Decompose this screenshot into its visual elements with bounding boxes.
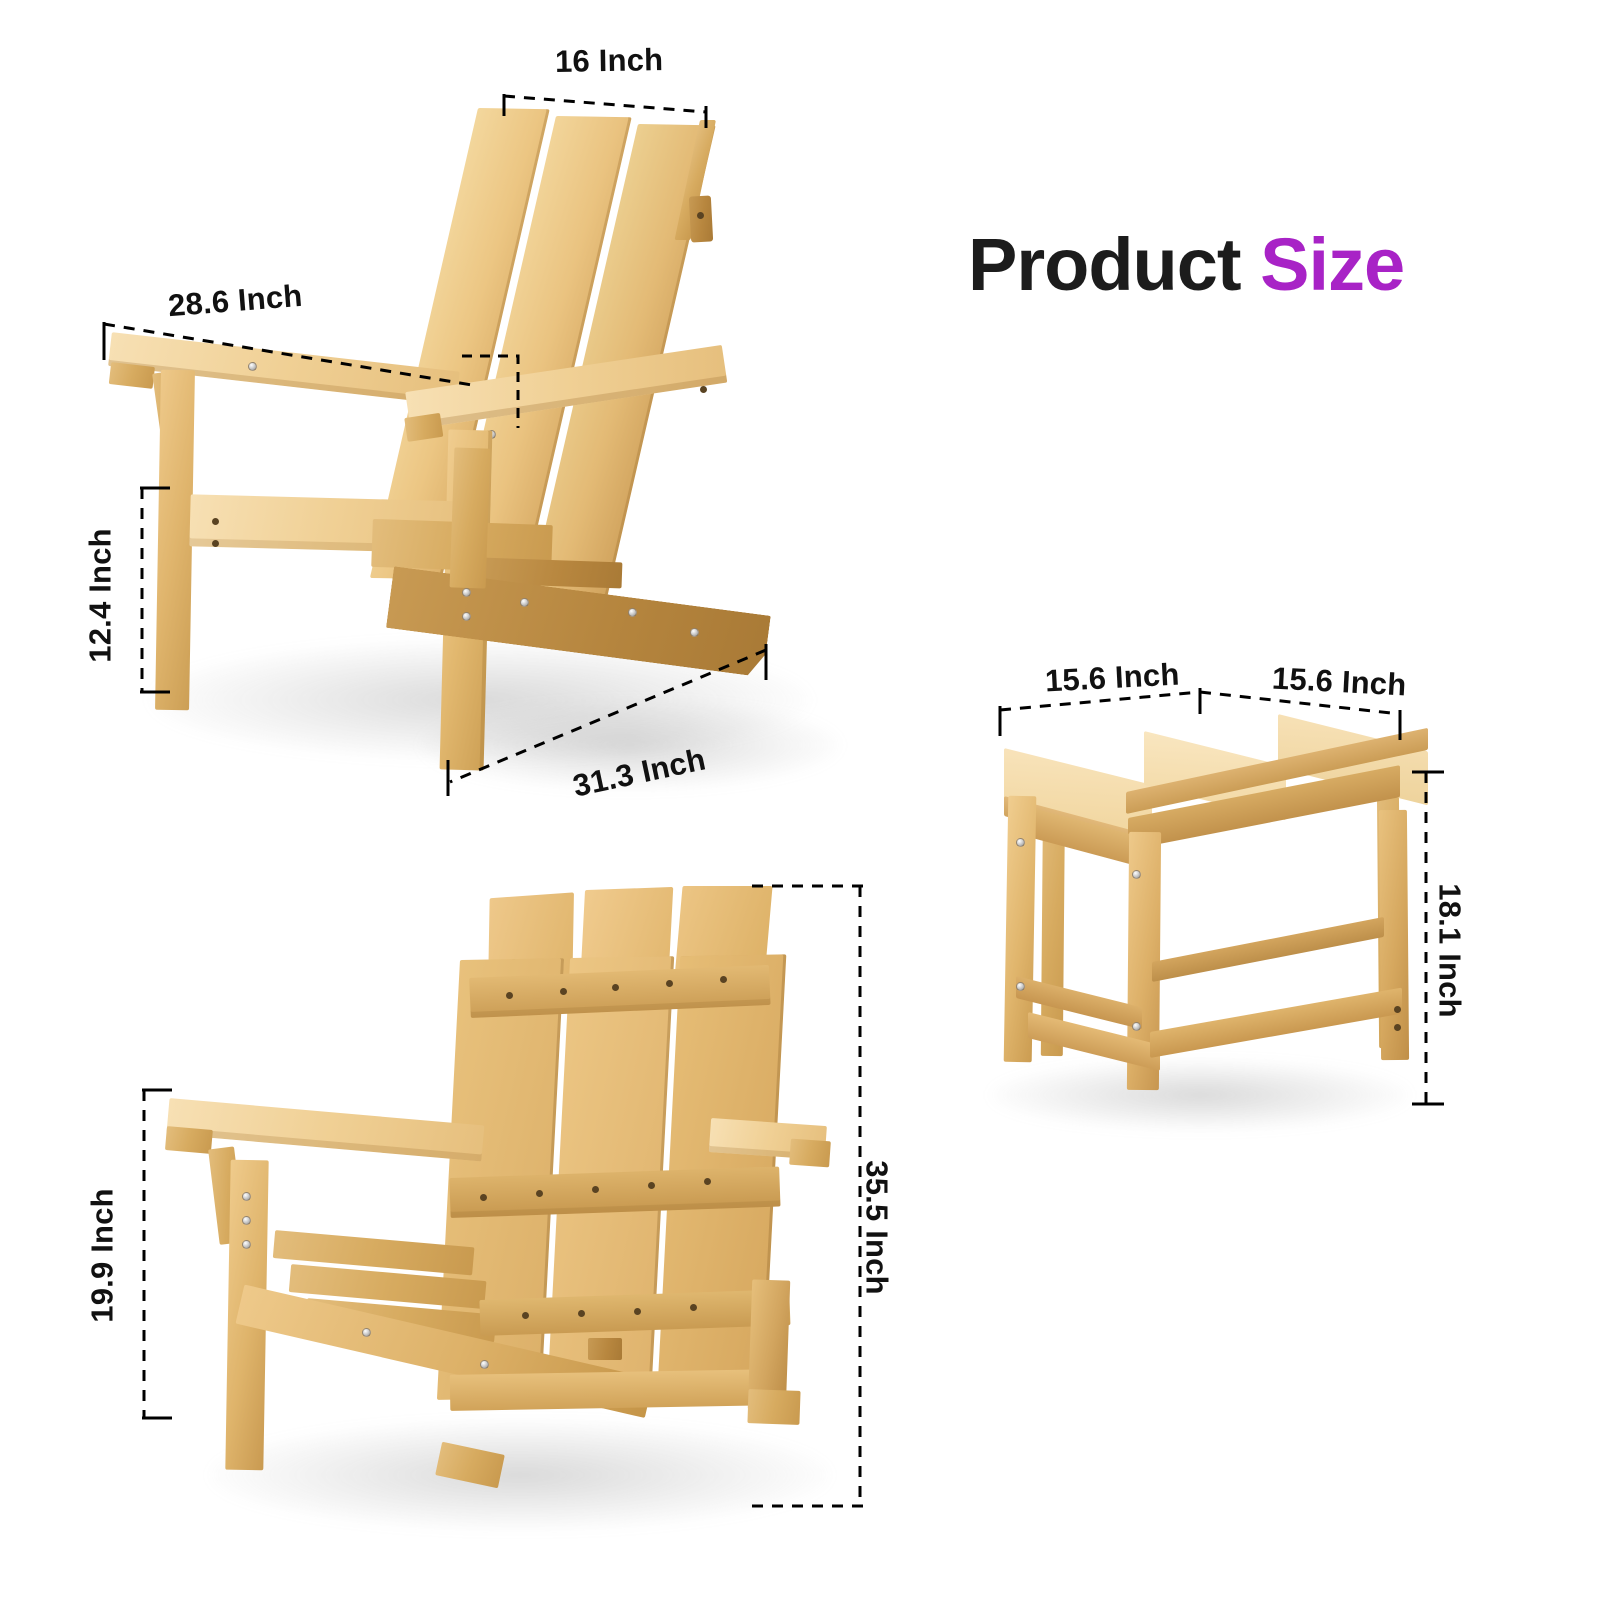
chair-rear-base-hole-3 bbox=[634, 1308, 641, 1315]
table-screw-1 bbox=[1016, 838, 1025, 847]
chair-rear-leg-screw-1 bbox=[242, 1192, 251, 1201]
chair-rear-mid-rail-hole-1 bbox=[480, 1194, 487, 1201]
table-stretcher-front-right bbox=[1150, 988, 1402, 1058]
chair-rear-upper-rail-hole-2 bbox=[560, 988, 567, 995]
chair-rear-leg-screw-2 bbox=[242, 1216, 251, 1225]
dim-line-chair-total-height bbox=[742, 880, 872, 1512]
chair-runner-screw-5 bbox=[690, 628, 699, 637]
page-title-accent: Size bbox=[1260, 223, 1404, 306]
chair-arm-near-hole bbox=[700, 386, 707, 393]
product-size-infographic: Product Size bbox=[0, 0, 1600, 1600]
table-stretcher-back bbox=[1152, 917, 1384, 982]
dim-line-table-height bbox=[1406, 768, 1450, 1108]
chair-rear-runner-screw-1 bbox=[362, 1328, 371, 1337]
chair-rear-upper-rail-hole-1 bbox=[506, 992, 513, 999]
dim-label-table-width-right: 15.6 Inch bbox=[1271, 663, 1407, 701]
chair-runner-screw-4 bbox=[628, 608, 637, 617]
dim-label-chair-arm-height: 19.9 Inch bbox=[87, 1188, 118, 1322]
table-screw-2 bbox=[1132, 870, 1141, 879]
chair-rear-center-nub bbox=[588, 1338, 622, 1360]
chair-rear-upper-rail-hole-5 bbox=[720, 976, 727, 983]
page-title: Product Size bbox=[968, 228, 1404, 302]
chair-rear-shadow bbox=[210, 1420, 830, 1530]
table-screw-4 bbox=[1132, 1022, 1141, 1031]
chair-rear-leg-screw-3 bbox=[242, 1240, 251, 1249]
dim-line-chair-arm-height bbox=[138, 1086, 182, 1422]
chair-back-bracket bbox=[689, 195, 713, 242]
chair-rail-hole-1 bbox=[212, 518, 219, 525]
dim-line-table-width bbox=[996, 700, 1408, 760]
dim-line-chair-total-depth bbox=[440, 640, 780, 800]
chair-rear-bottom-bar bbox=[450, 1369, 781, 1411]
chair-rear-mid-rail-hole-3 bbox=[592, 1186, 599, 1193]
dim-label-chair-width-top: 16 Inch bbox=[555, 44, 664, 77]
chair-rail-hole-2 bbox=[212, 540, 219, 547]
chair-rear-base-hole-4 bbox=[690, 1304, 697, 1311]
chair-rear-base-hole-2 bbox=[578, 1310, 585, 1317]
dim-corner-chair-arm-depth bbox=[460, 352, 540, 432]
dim-label-table-width-left: 15.6 Inch bbox=[1044, 659, 1180, 697]
chair-rear-post bbox=[450, 447, 491, 588]
dim-line-chair-seat-height bbox=[136, 484, 180, 696]
chair-rear-mid-rail-hole-4 bbox=[648, 1182, 655, 1189]
chair-rear-upper-rail-hole-4 bbox=[666, 980, 673, 987]
table-hole-2 bbox=[1394, 1024, 1401, 1031]
dim-label-chair-seat-height: 12.4 Inch bbox=[85, 528, 116, 662]
chair-runner-screw-3 bbox=[462, 612, 471, 621]
chair-rear-mid-rail-hole-2 bbox=[536, 1190, 543, 1197]
chair-runner-screw-2 bbox=[520, 598, 529, 607]
table-hole-1 bbox=[1394, 1006, 1401, 1013]
chair-rear-base-hole-1 bbox=[522, 1312, 529, 1319]
dim-line-chair-arm-depth bbox=[100, 318, 500, 408]
dim-line-chair-width-top bbox=[500, 88, 720, 128]
chair-runner-screw-1 bbox=[462, 588, 471, 597]
table-shadow bbox=[990, 1060, 1410, 1130]
chair-back-bracket-hole bbox=[697, 212, 704, 219]
chair-rear-upper-rail-hole-3 bbox=[612, 984, 619, 991]
chair-rear-runner-screw-2 bbox=[480, 1360, 489, 1369]
page-title-primary: Product bbox=[968, 223, 1260, 306]
chair-rear-mid-rail-hole-5 bbox=[704, 1178, 711, 1185]
table-screw-3 bbox=[1016, 982, 1025, 991]
